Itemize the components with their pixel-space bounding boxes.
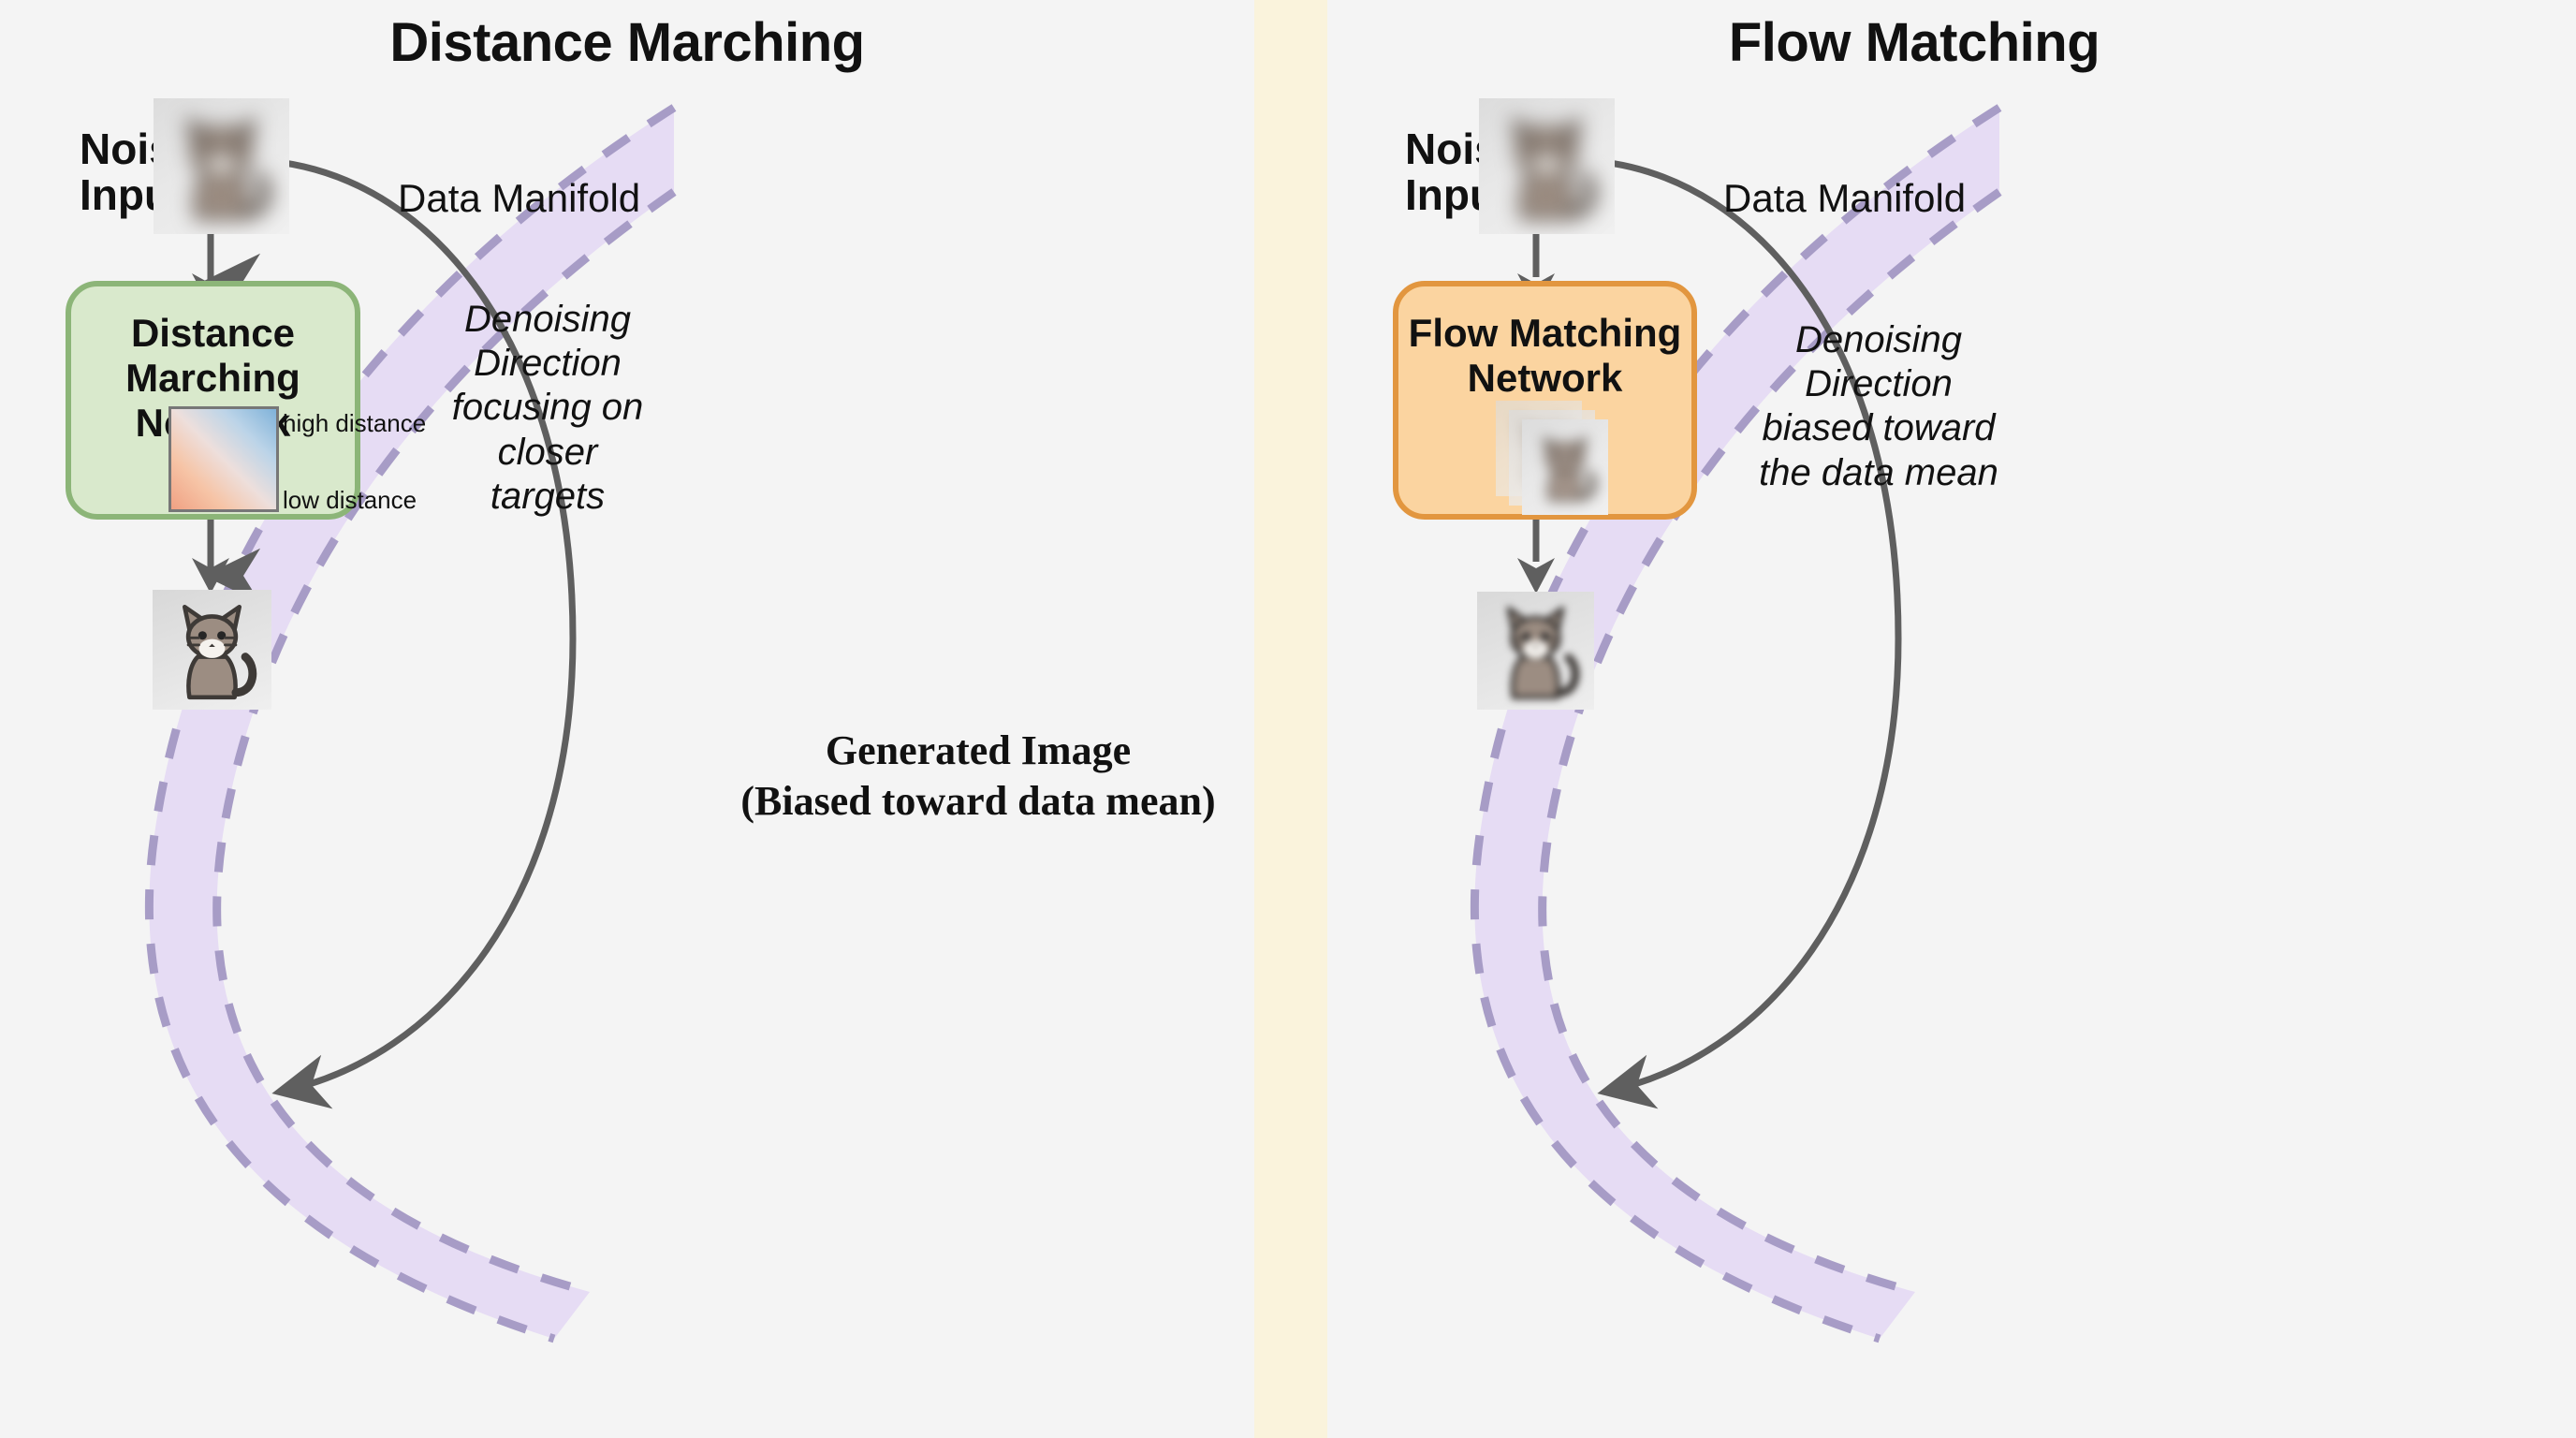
cat-icon — [1477, 592, 1594, 710]
denoising-note-left: Denoising Direction focusing on closer t… — [440, 298, 655, 519]
note-line-3: focusing on — [440, 386, 655, 430]
cat-icon — [1479, 98, 1615, 234]
noisy-input-image-left — [154, 98, 289, 234]
diagram-canvas: Distance Marching — [0, 0, 2576, 1438]
caption-line-2: (Closer Target) — [0, 776, 271, 827]
caption-line-1: Generated Image — [0, 726, 271, 776]
cat-icon — [1522, 419, 1608, 515]
data-manifold-label-right: Data Manifold — [1723, 176, 1966, 221]
distance-marching-network-box[interactable]: Distance Marching Network high distance … — [66, 281, 360, 520]
cat-icon — [154, 98, 289, 234]
note-line-2: Direction — [440, 342, 655, 386]
data-manifold-label-left: Data Manifold — [398, 176, 640, 221]
cat-icon — [153, 590, 271, 710]
caption-line-2: (Biased toward data mean) — [354, 776, 1603, 827]
noisy-input-image-right — [1479, 98, 1615, 234]
generated-image-right — [1477, 592, 1594, 710]
swatch-label-low: low distance — [283, 486, 417, 515]
denoising-note-right: Denoising Direction biased toward the da… — [1758, 318, 1999, 495]
panel-distance-marching: Distance Marching — [0, 0, 1254, 1438]
arrowhead-network-to-output — [192, 558, 229, 594]
distance-gradient-swatch — [168, 406, 279, 512]
note-line-4: the data mean — [1758, 451, 1999, 495]
caption-left: Generated Image (Closer Target) — [0, 726, 271, 826]
note-line-1: Denoising — [440, 298, 655, 342]
note-line-3: biased toward — [1758, 406, 1999, 450]
network-title-line-1: Distance Marching — [71, 311, 355, 401]
stacked-sample-images — [1496, 401, 1617, 515]
flow-matching-network-box[interactable]: Flow Matching Network — [1393, 281, 1697, 520]
note-line-2: Direction — [1758, 362, 1999, 406]
note-line-4: closer targets — [440, 431, 655, 519]
network-title-line-2: Network — [1398, 356, 1691, 401]
arrowhead-network-to-output — [1517, 558, 1555, 594]
flow-matching-network-title: Flow Matching Network — [1398, 311, 1691, 401]
note-line-1: Denoising — [1758, 318, 1999, 362]
generated-image-left — [153, 590, 271, 710]
caption-right: Generated Image (Biased toward data mean… — [354, 726, 1603, 826]
panel-flow-matching: Flow Matching Noisy Input — [1327, 0, 2576, 1438]
network-title-line-1: Flow Matching — [1398, 311, 1691, 356]
swatch-label-high: high distance — [283, 409, 426, 438]
panel-divider — [1254, 0, 1327, 1438]
caption-line-1: Generated Image — [354, 726, 1603, 776]
sample-image-1 — [1522, 419, 1608, 515]
